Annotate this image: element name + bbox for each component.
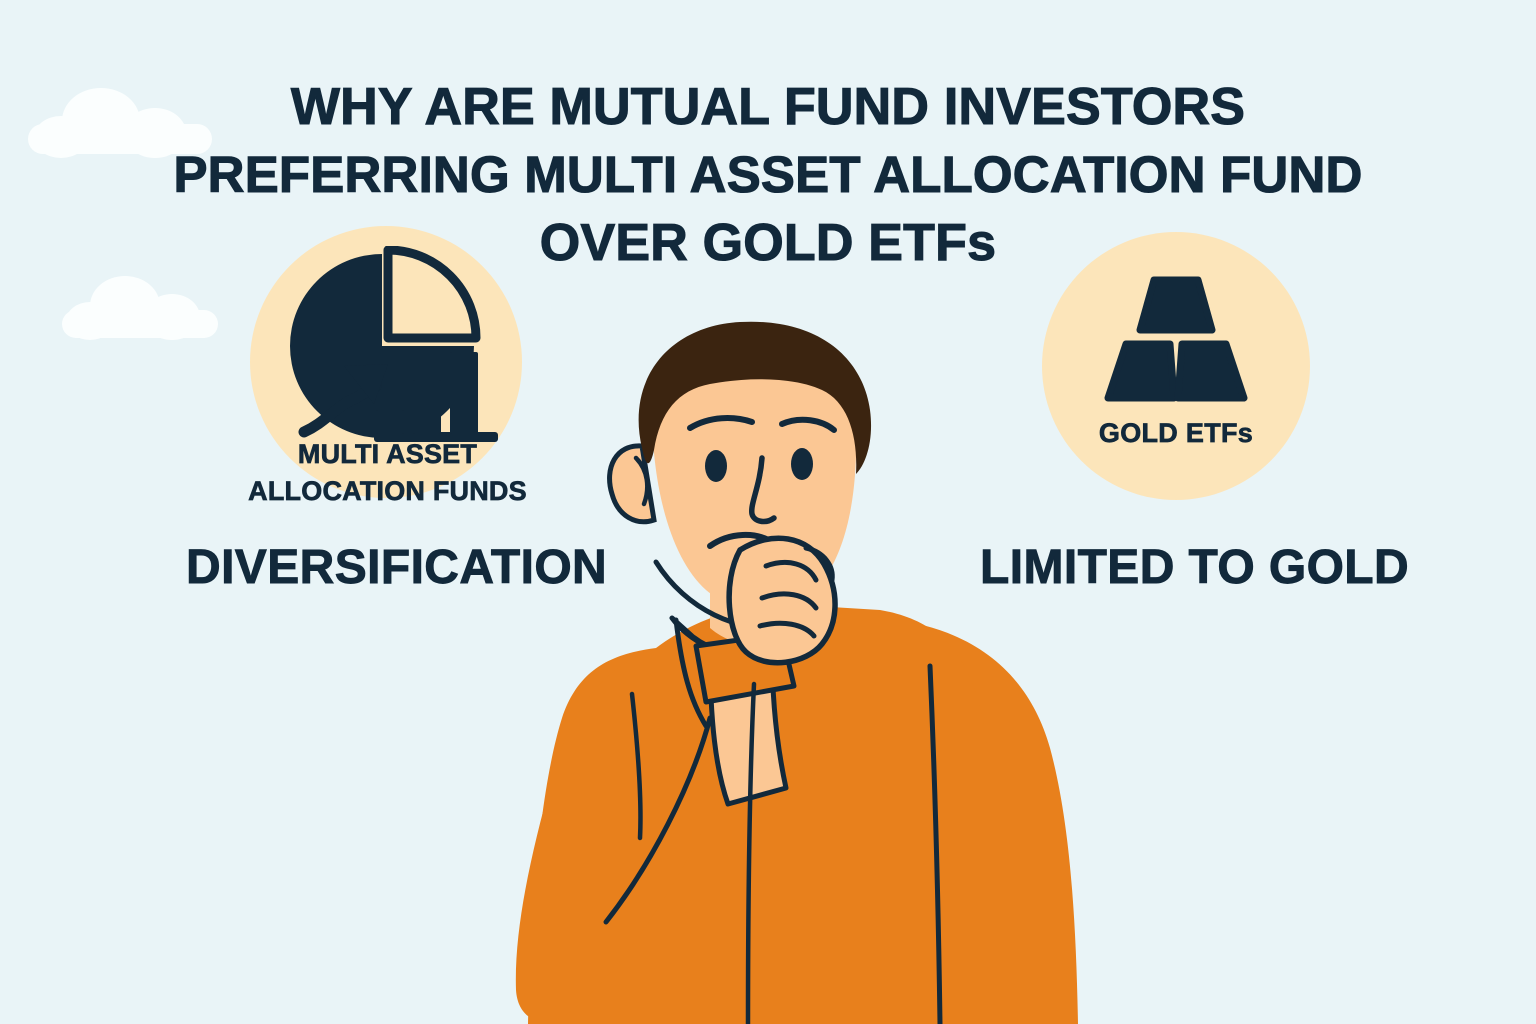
cloud-icon [62,276,218,338]
title-line-3: OVER GOLD ETFs [0,209,1536,278]
page-title: WHY ARE MUTUAL FUND INVESTORS PREFERRING… [0,73,1536,278]
eye-right [791,448,813,480]
fist [729,538,835,663]
title-line-2: PREFERRING MULTI ASSET ALLOCATION FUND [0,141,1536,208]
eye-left [705,450,727,482]
infographic-canvas: WHY ARE MUTUAL FUND INVESTORS PREFERRING… [0,0,1536,1024]
title-line-1: WHY ARE MUTUAL FUND INVESTORS [0,73,1536,142]
thinking-man-illustration [410,318,1130,1024]
